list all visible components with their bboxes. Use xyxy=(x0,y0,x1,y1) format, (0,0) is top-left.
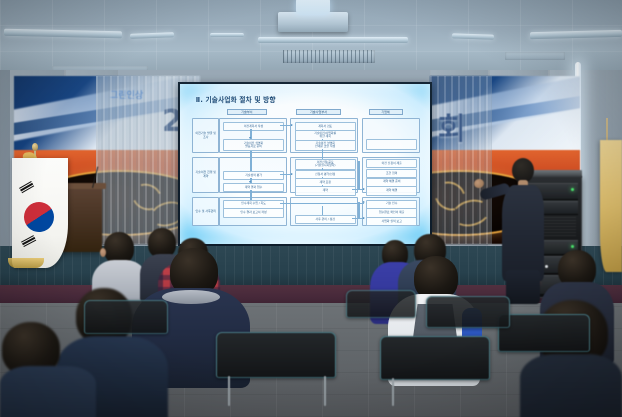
chair xyxy=(216,332,336,378)
audience-ear xyxy=(100,248,106,257)
node-r2c3-3: 계약 체결 준비 xyxy=(366,178,417,187)
node-r2c1-1: 기술성적 평가 xyxy=(223,171,284,180)
connector-r1c2-down2 xyxy=(322,139,323,140)
node-r3c3-3: 사업화 실적 보고 xyxy=(366,217,417,226)
chair-rim xyxy=(380,336,490,380)
chair-rim xyxy=(216,332,336,378)
connector-r3-c1-c3 xyxy=(280,203,364,204)
slide-content: Ⅱ. 기술사업화 절차 및 방향 기술부서 기술사업부서 기업체 이전기술 발굴… xyxy=(191,94,419,232)
chair-leg xyxy=(228,376,230,406)
node-r2c3-2: 조건 협의 xyxy=(366,169,417,178)
conference-room-photo: 그린인상 20 하늘 선물 회 Ⅱ. 기술사업화 절차 및 방향 xyxy=(0,0,622,417)
chair xyxy=(426,296,510,328)
projector-lens xyxy=(296,0,330,14)
presenter-legs xyxy=(506,270,540,304)
arrow-r1c1-down xyxy=(249,137,251,139)
audience-torso xyxy=(0,366,96,417)
node-r3c1-2: 인수 결과 보고서 작성 xyxy=(223,208,284,217)
arrow-r2-c2-c3 xyxy=(363,188,365,190)
ceiling-air-vent xyxy=(283,50,375,63)
rack-status-led xyxy=(571,245,574,248)
column-header-company: 기업체 xyxy=(369,109,403,116)
connector-r2r3-bridge xyxy=(250,190,251,200)
node-r2c3-4: 계약 체결 xyxy=(366,186,417,195)
connector-r1r2-bridge2 xyxy=(322,149,323,159)
ceiling xyxy=(0,0,622,78)
slide-title: Ⅱ. 기술사업화 절차 및 방향 xyxy=(196,94,276,104)
row-label-2: 기술이전 진행 및 계약 xyxy=(192,157,219,193)
chair-rim xyxy=(84,300,168,334)
column-header-tech-dept: 기술부서 xyxy=(227,109,268,116)
chair xyxy=(84,300,168,334)
connector-r2-c3-left xyxy=(358,161,359,190)
column-header-tech-biz-dept: 기술사업부서 xyxy=(296,109,341,116)
chair-leg xyxy=(324,376,326,406)
node-r2c3-1: 이전 신청서 제출 xyxy=(366,159,417,168)
arrow-r1-c1-c2 xyxy=(291,124,293,126)
connector-r2-c1-c2 xyxy=(280,174,292,175)
audience-member xyxy=(0,322,96,417)
presentation-slide: Ⅱ. 기술사업화 절차 및 방향 기술부서 기술사업부서 기업체 이전기술 발굴… xyxy=(180,84,430,244)
node-r1c3-placeholder xyxy=(366,139,417,150)
node-r1c1-1: 이전계획서 작성 xyxy=(223,122,284,131)
row-label-1: 이전기술 발굴 및 조사 xyxy=(192,118,219,153)
taeguk-symbol xyxy=(18,196,59,237)
projection-screen: Ⅱ. 기술사업화 절차 및 방향 기술부서 기술사업부서 기업체 이전기술 발굴… xyxy=(178,82,432,246)
node-r3c2-1: 사후 관리 / 점검 xyxy=(295,215,356,224)
connector-r3c2-up xyxy=(322,206,323,214)
screen-veil xyxy=(430,76,492,244)
node-r3c3-1: 기술 인수 xyxy=(366,200,417,209)
chair-rim xyxy=(346,290,416,318)
flag-fringe xyxy=(8,258,44,268)
chair-rim xyxy=(426,296,510,328)
trigram-geon xyxy=(19,181,35,194)
presenter-torso xyxy=(502,185,544,281)
rack-status-led xyxy=(571,188,574,191)
connector-r2c2-v3 xyxy=(322,185,323,186)
arrow-r2c1-down xyxy=(249,181,251,183)
arrow-r2-c1-c2 xyxy=(291,173,293,175)
korean-national-flag xyxy=(12,158,68,268)
node-r3c1-1: 인수계획 수립 / 지도 xyxy=(223,200,284,209)
ceiling-light-fixture xyxy=(210,33,244,37)
arrow-r3-c2-c3 xyxy=(363,217,365,219)
connector-r1r2-bridge xyxy=(250,151,251,170)
audience-torso xyxy=(520,354,622,417)
connector-r3c3-v xyxy=(358,202,359,219)
connector-r1c2-down xyxy=(322,129,323,130)
connector-r2c2-v xyxy=(322,168,323,170)
chair xyxy=(498,314,590,352)
jacket-collar xyxy=(162,290,220,304)
connector-r1-c1-c2 xyxy=(280,125,292,126)
arrow-r3-c1-c3 xyxy=(363,201,365,203)
node-r1c2-3: 기술이전 설명회 안내문 초안 작성 xyxy=(295,140,356,151)
chair xyxy=(380,336,490,380)
chair-leg xyxy=(392,378,394,406)
vent-louvers xyxy=(283,50,375,63)
node-r1c1-2: 기술이전 설명회 발표자료 준비 xyxy=(223,139,284,151)
ceiling-projector xyxy=(278,12,348,32)
node-r2c2-1: 이전신청/공모 (기술실시희망자) xyxy=(295,159,356,170)
chair-rim xyxy=(498,314,590,352)
trigram-gon xyxy=(21,235,37,248)
chair xyxy=(346,290,416,318)
flag-finial-icon xyxy=(32,143,38,151)
ceiling-air-vent xyxy=(505,52,565,60)
node-r2c1-2: 계약 결과 접수 xyxy=(223,183,284,192)
node-r2c2-4: 계약 xyxy=(295,186,356,195)
row-label-3: 인수 및 사후관리 xyxy=(192,197,219,227)
ceiling-light-fixture xyxy=(258,37,408,43)
connector-r2c2-v2 xyxy=(322,177,323,178)
